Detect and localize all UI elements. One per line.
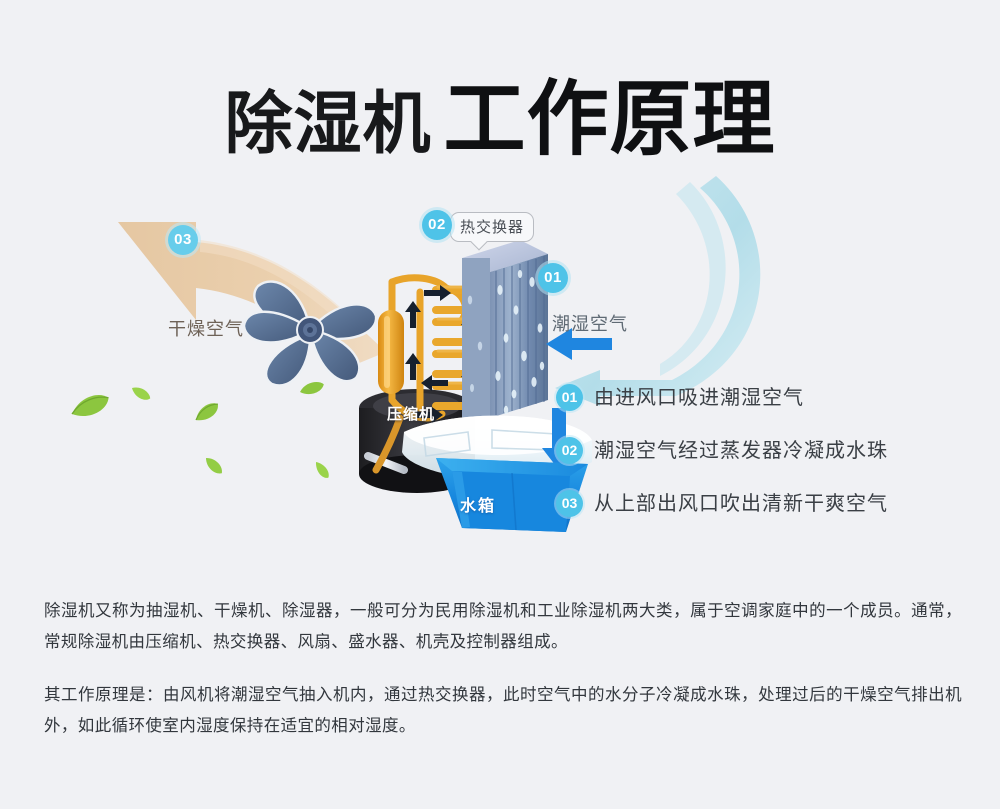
humid-air-label: 潮湿空气 (552, 310, 628, 336)
heat-exchanger-fins (462, 240, 548, 418)
legend-label-02: 潮湿空气经过蒸发器冷凝成水珠 (594, 439, 888, 463)
legend-item-01: 01 由进风口吸进潮湿空气 (556, 371, 976, 424)
compressor-label: 压缩机 (387, 403, 435, 424)
page-title-secondary: 工作原理 (444, 74, 776, 165)
infographic-page: 除湿机工作原理 (0, 0, 1000, 809)
legend-item-03: 03 从上部出风口吹出清新干爽空气 (556, 477, 976, 530)
badge-03-outlet: 03 (168, 225, 198, 255)
legend-label-03: 从上部出风口吹出清新干爽空气 (594, 492, 888, 516)
leaf-icons (68, 379, 331, 480)
description-paragraph-2: 其工作原理是：由风机将潮湿空气抽入机内，通过热交换器，此时空气中的水分子冷凝成水… (44, 680, 962, 742)
legend-label-01: 由进风口吸进潮湿空气 (594, 386, 804, 410)
water-tank-label: 水箱 (460, 492, 496, 516)
description-block: 除湿机又称为抽湿机、干燥机、除湿器，一般可分为民用除湿机和工业除湿机两大类，属于… (44, 596, 962, 742)
heat-exchanger-callout: 热交换器 (450, 212, 534, 242)
page-title-primary: 除湿机 (224, 86, 431, 162)
dry-air-label: 干燥空气 (168, 315, 244, 341)
legend-badge-03: 03 (556, 490, 583, 517)
legend-badge-02: 02 (556, 437, 583, 464)
legend-item-02: 02 潮湿空气经过蒸发器冷凝成水珠 (556, 424, 976, 477)
legend-badge-01: 01 (556, 384, 583, 411)
badge-02-heat-exchanger: 02 (422, 210, 452, 240)
badge-01-inlet: 01 (538, 263, 568, 293)
legend-list: 01 由进风口吸进潮湿空气 02 潮湿空气经过蒸发器冷凝成水珠 03 从上部出风… (556, 371, 976, 530)
description-paragraph-1: 除湿机又称为抽湿机、干燥机、除湿器，一般可分为民用除湿机和工业除湿机两大类，属于… (44, 596, 962, 658)
page-title: 除湿机工作原理 (0, 52, 1000, 171)
accumulator-cylinder (378, 310, 404, 394)
